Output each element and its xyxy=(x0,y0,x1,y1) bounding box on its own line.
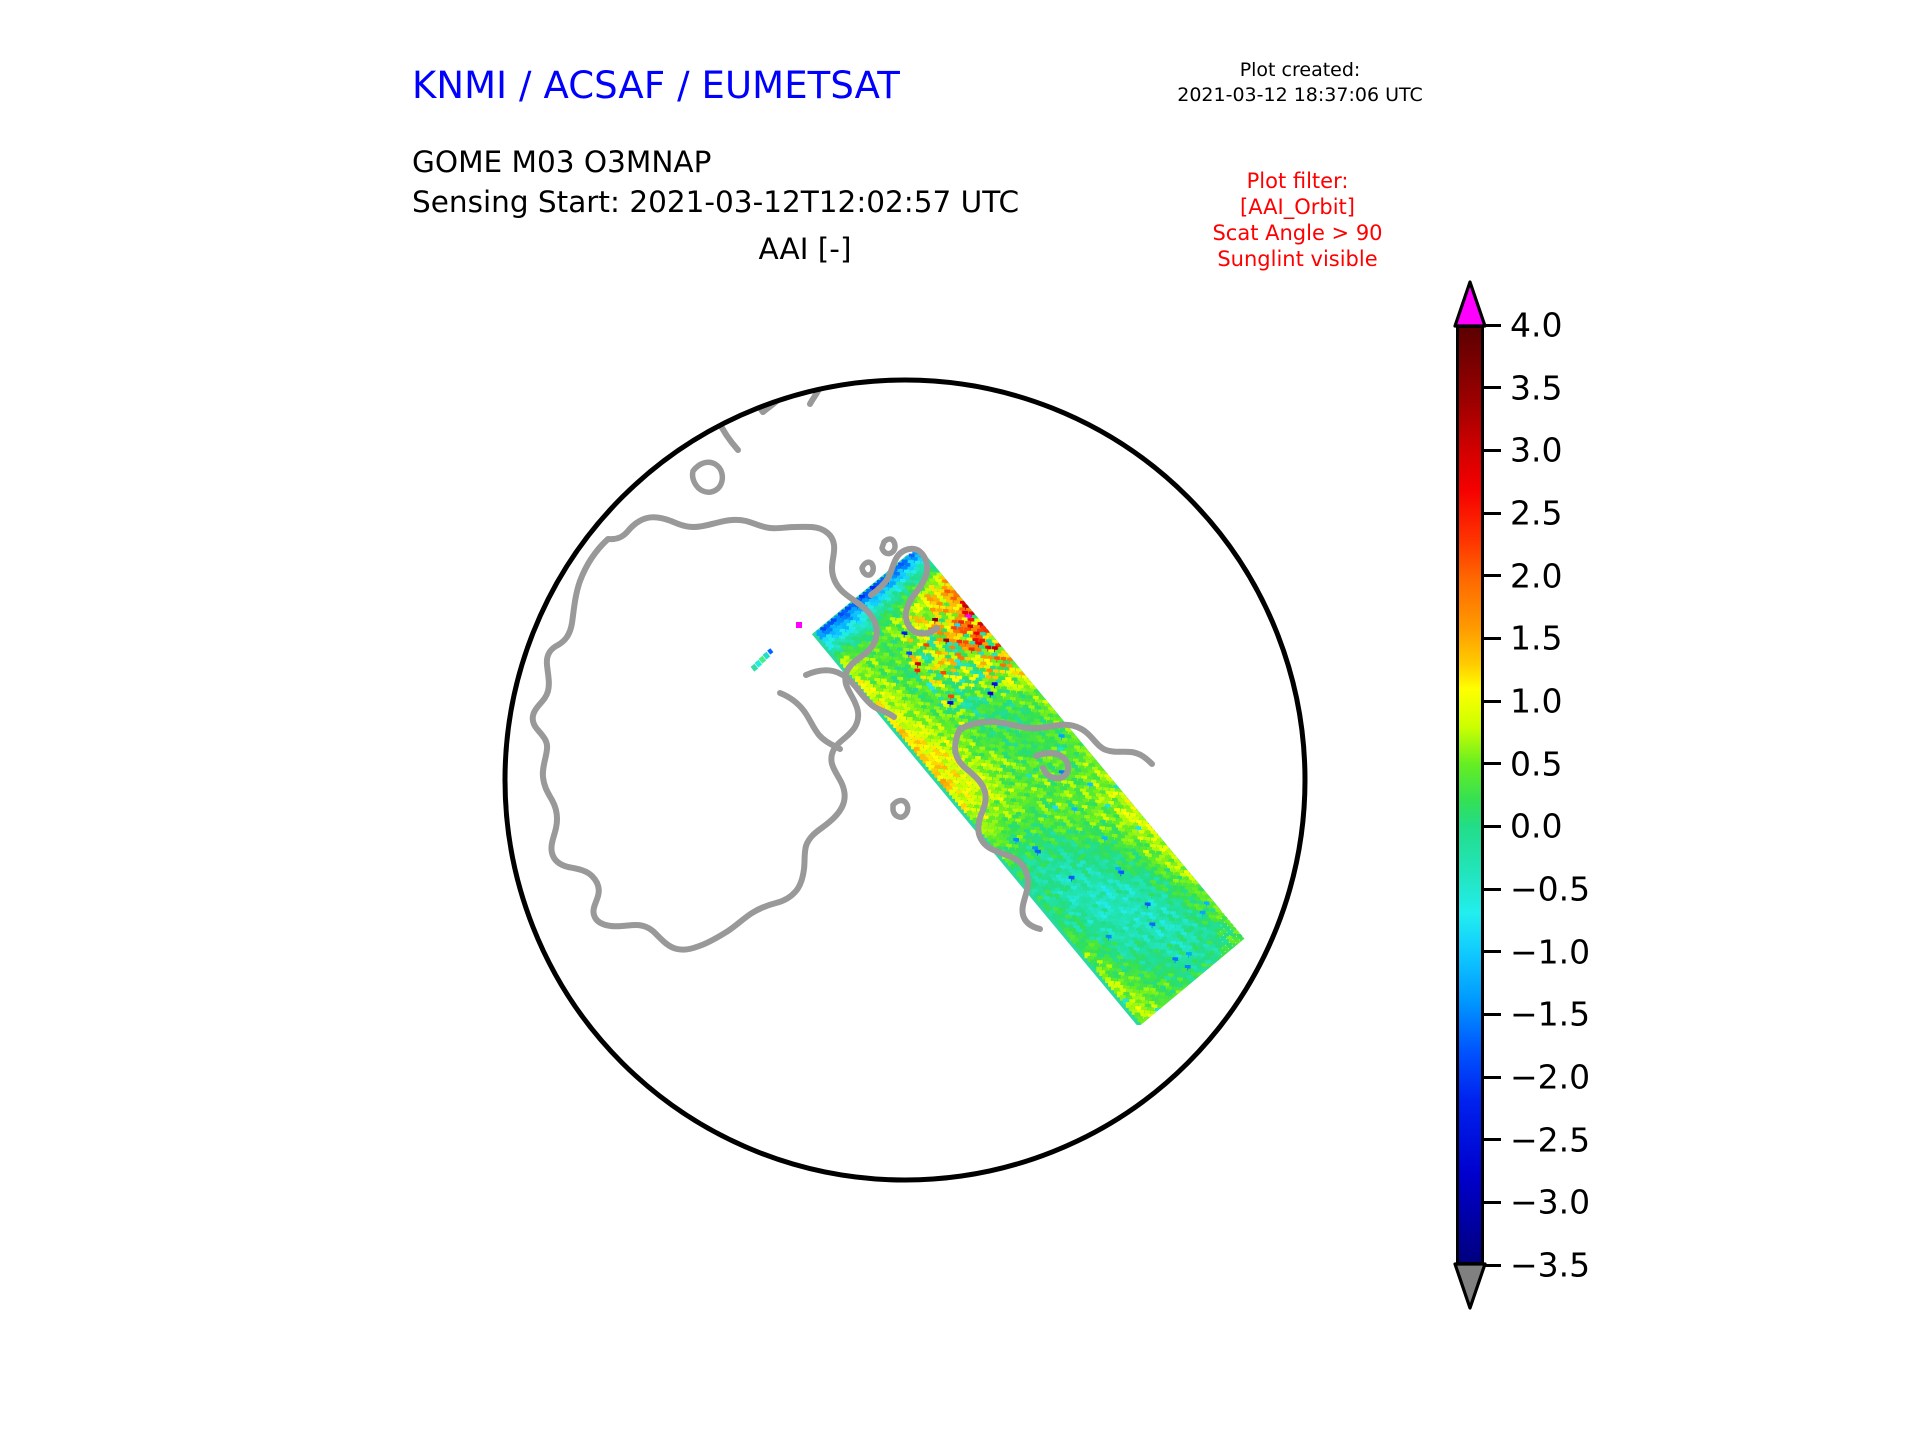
colorbar-gradient xyxy=(1456,325,1484,1265)
colorbar-tick-mark xyxy=(1484,888,1501,891)
colorbar-tick-label: 0.0 xyxy=(1510,807,1562,846)
plot-created-label: Plot created: xyxy=(1160,58,1440,83)
colorbar-tick-label: 0.5 xyxy=(1510,744,1562,783)
colorbar-tick-label: −1.5 xyxy=(1510,995,1590,1034)
product-title-block: GOME M03 O3MNAP Sensing Start: 2021-03-1… xyxy=(412,142,1019,222)
plot-filter-label: Plot filter: xyxy=(1155,168,1440,194)
colorbar-tick-mark xyxy=(1484,1013,1501,1016)
figure-canvas: KNMI / ACSAF / EUMETSAT Plot created: 20… xyxy=(0,0,1920,1440)
over-range-pixel xyxy=(796,622,802,628)
sensing-start: Sensing Start: 2021-03-12T12:02:57 UTC xyxy=(412,182,1019,222)
colorbar-tick-label: −2.5 xyxy=(1510,1120,1590,1159)
colorbar-tick-label: 3.5 xyxy=(1510,368,1562,407)
coastline-island-west xyxy=(455,533,470,548)
plot-filter-variable: [AAI_Orbit] xyxy=(1155,194,1440,220)
colorbar-tick-label: −3.0 xyxy=(1510,1183,1590,1222)
globe-disc xyxy=(505,380,1305,1180)
plot-filter-scat-angle: Scat Angle > 90 xyxy=(1155,220,1440,246)
colorbar-tick-label: −1.0 xyxy=(1510,932,1590,971)
quantity-title: AAI [-] xyxy=(412,232,1198,266)
colorbar-tick-mark xyxy=(1484,1264,1501,1267)
colorbar-tick-mark xyxy=(1484,1138,1501,1141)
colorbar-tick-mark xyxy=(1484,1076,1501,1079)
colorbar-tick-label: 3.0 xyxy=(1510,431,1562,470)
plot-filter-sunglint: Sunglint visible xyxy=(1155,246,1440,272)
colorbar-tick-mark xyxy=(1484,762,1501,765)
product-name: GOME M03 O3MNAP xyxy=(412,142,1019,182)
colorbar-over-range-arrow xyxy=(1453,280,1487,328)
colorbar-tick-label: 2.5 xyxy=(1510,494,1562,533)
colorbar-tick-mark xyxy=(1484,449,1501,452)
colorbar-tick-label: 4.0 xyxy=(1510,306,1562,345)
colorbar-tick-label: −3.5 xyxy=(1510,1246,1590,1285)
agency-credit-line: KNMI / ACSAF / EUMETSAT xyxy=(412,64,900,107)
colorbar-tick-label: −0.5 xyxy=(1510,870,1590,909)
colorbar-tick-mark xyxy=(1484,324,1501,327)
colorbar-under-range-arrow xyxy=(1453,1262,1487,1310)
colorbar-tick-mark xyxy=(1484,637,1501,640)
plot-created-block: Plot created: 2021-03-12 18:37:06 UTC xyxy=(1160,58,1440,108)
colorbar-tick-mark xyxy=(1484,386,1501,389)
colorbar-tick-label: −2.0 xyxy=(1510,1058,1590,1097)
colorbar-tick-mark xyxy=(1484,825,1501,828)
colorbar-tick-label: 1.5 xyxy=(1510,619,1562,658)
colorbar-tick-mark xyxy=(1484,1201,1501,1204)
polar-map xyxy=(400,275,1410,1285)
coastline-edge-sliver xyxy=(638,437,671,453)
plot-filter-block: Plot filter: [AAI_Orbit] Scat Angle > 90… xyxy=(1155,168,1440,272)
plot-created-timestamp: 2021-03-12 18:37:06 UTC xyxy=(1160,83,1440,108)
colorbar-tick-label: 2.0 xyxy=(1510,556,1562,595)
colorbar-tick-label: 1.0 xyxy=(1510,682,1562,721)
colorbar: 4.03.53.02.52.01.51.00.50.0−0.5−1.0−1.5−… xyxy=(1440,280,1500,1305)
colorbar-tick-mark xyxy=(1484,700,1501,703)
colorbar-tick-mark xyxy=(1484,512,1501,515)
colorbar-tick-mark xyxy=(1484,950,1501,953)
colorbar-tick-mark xyxy=(1484,574,1501,577)
